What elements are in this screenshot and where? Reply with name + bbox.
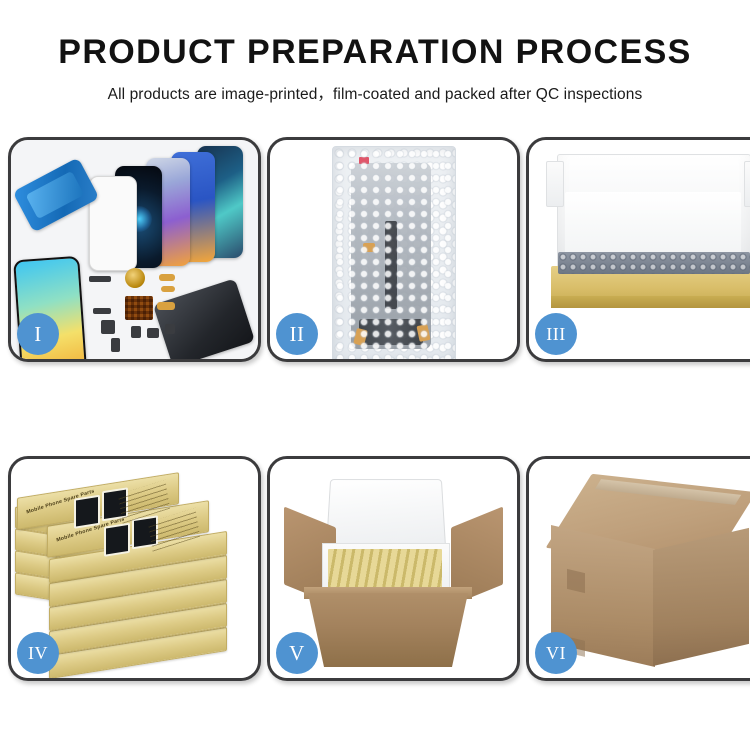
part-connector-1 bbox=[93, 308, 111, 314]
part-flex-cable-1 bbox=[159, 274, 175, 281]
part-flex-cable-3 bbox=[157, 302, 175, 310]
step-panel-6[interactable]: VI bbox=[526, 456, 750, 681]
step-panel-3[interactable]: III bbox=[526, 137, 750, 362]
step-cell-5: V bbox=[267, 456, 526, 687]
header: PRODUCT PREPARATION PROCESS All products… bbox=[0, 0, 750, 104]
part-copper-coil bbox=[125, 268, 145, 288]
part-speaker-mesh bbox=[89, 276, 111, 282]
part-camera-module bbox=[101, 320, 115, 334]
part-flex-cable-2 bbox=[161, 286, 175, 292]
sealed-carton bbox=[547, 477, 750, 669]
box-window-1 bbox=[104, 523, 130, 557]
page-title: PRODUCT PREPARATION PROCESS bbox=[0, 34, 750, 71]
step-cell-3: III bbox=[526, 137, 750, 368]
spare-parts-cluster bbox=[87, 268, 207, 359]
carton-body bbox=[308, 593, 468, 667]
step-badge-5: V bbox=[276, 632, 318, 674]
bubble-wrap-bag bbox=[332, 146, 456, 359]
part-button-bracket bbox=[131, 326, 141, 338]
step-badge-4: IV bbox=[17, 632, 59, 674]
process-steps-grid: I II bbox=[8, 137, 742, 687]
step-panel-1[interactable]: I bbox=[8, 137, 261, 362]
step-cell-6: VI bbox=[526, 456, 750, 687]
step-badge-3: III bbox=[535, 313, 577, 355]
step-panel-4[interactable]: Mobile Phone Spare Parts Mobile Phone Sp… bbox=[8, 456, 261, 681]
step-badge-2: II bbox=[276, 313, 318, 355]
step-badge-6: VI bbox=[535, 632, 577, 674]
part-vibrator bbox=[147, 328, 159, 338]
foam-lid bbox=[326, 479, 447, 551]
carton-side-face bbox=[653, 528, 749, 666]
box-window-1 bbox=[74, 495, 100, 529]
part-chip-array bbox=[125, 296, 153, 320]
step-badge-1: I bbox=[17, 313, 59, 355]
carton-mark-upper bbox=[567, 569, 585, 593]
step-panel-2[interactable]: II bbox=[267, 137, 520, 362]
step-cell-2: II bbox=[267, 137, 526, 368]
step-cell-1: I bbox=[8, 137, 267, 368]
page-subtitle: All products are image-printed，film-coat… bbox=[0, 82, 750, 104]
step-cell-4: Mobile Phone Spare Parts Mobile Phone Sp… bbox=[8, 456, 267, 687]
part-sim-tray bbox=[111, 338, 120, 352]
bubble-texture-overlay bbox=[333, 147, 455, 359]
phone-white-frame-glass bbox=[89, 176, 137, 271]
part-screw-plate bbox=[165, 324, 175, 334]
step-panel-5[interactable]: V bbox=[267, 456, 520, 681]
kraft-tray-base bbox=[551, 266, 750, 308]
